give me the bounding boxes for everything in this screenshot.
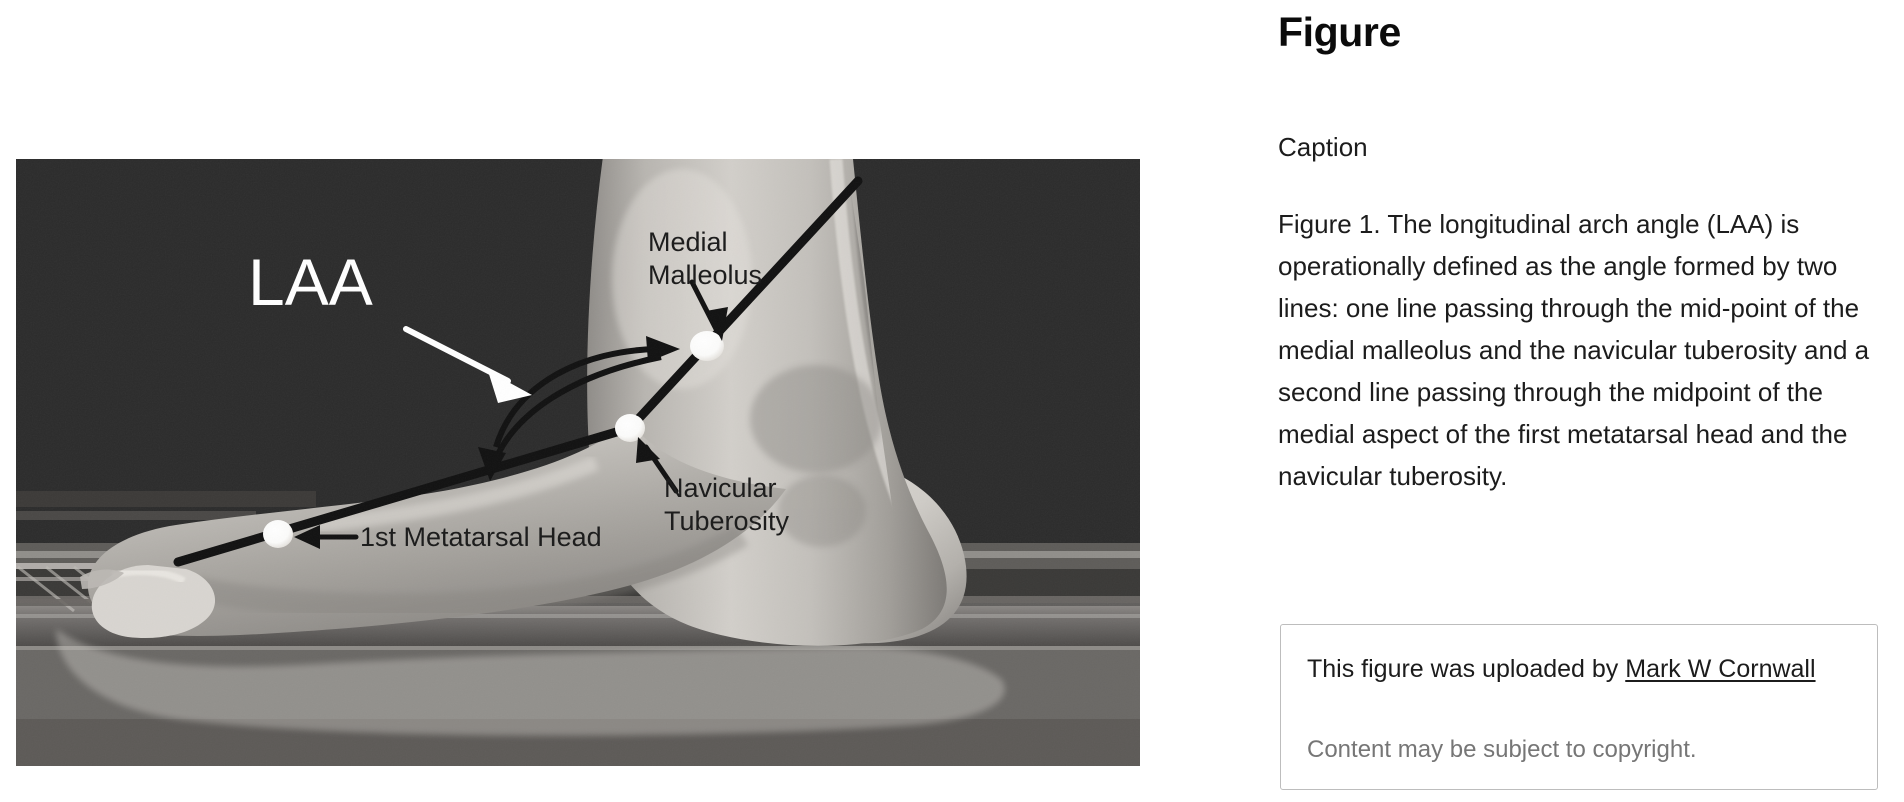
upload-attribution-prefix: This figure was uploaded by: [1307, 655, 1625, 683]
page-title: Figure: [1278, 8, 1401, 56]
figure-illustration: LAA Medial Malleolus Navicular Tuberosit…: [16, 159, 1140, 766]
figure-viewer-page: LAA Medial Malleolus Navicular Tuberosit…: [0, 0, 1904, 802]
upload-attribution: This figure was uploaded by Mark W Cornw…: [1307, 649, 1853, 690]
figure-info-panel: Figure Caption Figure 1. The longitudina…: [1278, 0, 1902, 802]
copyright-note: Content may be subject to copyright.: [1307, 733, 1697, 767]
author-link[interactable]: Mark W Cornwall: [1625, 655, 1815, 683]
attribution-box: This figure was uploaded by Mark W Cornw…: [1280, 624, 1878, 790]
figure-image[interactable]: LAA Medial Malleolus Navicular Tuberosit…: [16, 159, 1140, 766]
caption-text: Figure 1. The longitudinal arch angle (L…: [1278, 203, 1886, 497]
caption-heading: Caption: [1278, 132, 1368, 162]
